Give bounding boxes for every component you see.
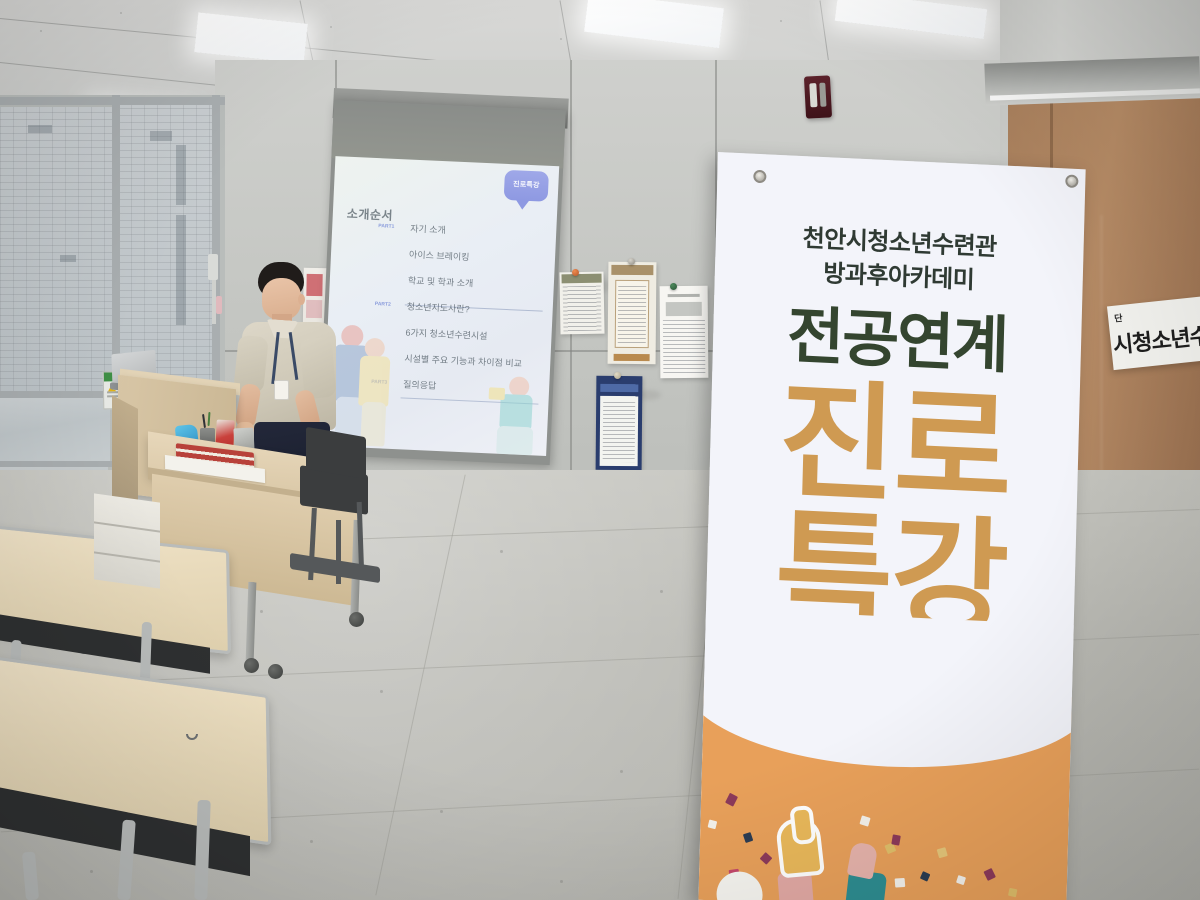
slide-badge: 진로특강 (504, 170, 549, 202)
presenter-ear (298, 294, 305, 305)
banner-title-mid: 진로 (709, 374, 1080, 519)
presenter-id-badge (274, 380, 289, 400)
slide-item-text: 아이스 브레이킹 (409, 248, 470, 264)
ceiling-light (835, 0, 988, 39)
banner-orange-band (698, 680, 1071, 900)
slide-badge-label: 진로특강 (504, 179, 548, 191)
pin (670, 283, 677, 290)
ceiling-light (194, 12, 308, 63)
cabinet (94, 493, 160, 588)
wall-notice-left (559, 272, 604, 335)
slide-part-label: PART2 (375, 301, 391, 308)
classroom-photo-scene: 진로특강 소개순서 PART1 자기 소개 아이스 브레이킹 학교 및 학과 소… (0, 0, 1200, 900)
pin (572, 269, 579, 276)
rollup-banner: 천안시청소년수련관 방과후아카데미 전공연계 진로 특강 대학생 멘토 봉사단 … (698, 152, 1085, 900)
slide-part-label: PART1 (378, 223, 394, 230)
caster (268, 664, 283, 679)
slide-canvas: 진로특강 소개순서 PART1 자기 소개 아이스 브레이킹 학교 및 학과 소… (322, 156, 559, 456)
slide-item-text: 6가지 청소년수련시설 (405, 325, 488, 342)
slide-item-text: 청소년지도사란? (406, 300, 469, 316)
slide-illustration-right (482, 375, 549, 456)
wall-notice-center (608, 262, 657, 364)
slide-item-text: 자기 소개 (410, 222, 446, 237)
pin (614, 372, 621, 379)
slide-item-text: 질의응답 (403, 377, 437, 391)
wall-notice-right (660, 286, 709, 378)
banner-title-top: 전공연계 (712, 302, 1081, 381)
fire-alarm-icon (804, 75, 832, 118)
wall-clip (216, 296, 222, 314)
illustration-ball (716, 871, 763, 900)
secondary-banner-main-text: 시청소년수련관 (1111, 314, 1200, 360)
slide-item-text: 학교 및 학과 소개 (408, 274, 474, 290)
illustration-yellow-hand (775, 817, 825, 879)
wall-fixture (208, 254, 218, 280)
secondary-banner-small-text: 단 (1114, 311, 1124, 325)
caster (244, 658, 259, 673)
wall-notice-bottom (596, 376, 643, 470)
secondary-banner: 단 시청소년수련관 (1107, 294, 1200, 370)
caster (349, 612, 364, 627)
projection-screen: 진로특강 소개순서 PART1 자기 소개 아이스 브레이킹 학교 및 학과 소… (318, 100, 566, 465)
pin (628, 258, 635, 265)
ceiling-light (584, 0, 724, 48)
slide-title: 소개순서 (346, 205, 393, 224)
